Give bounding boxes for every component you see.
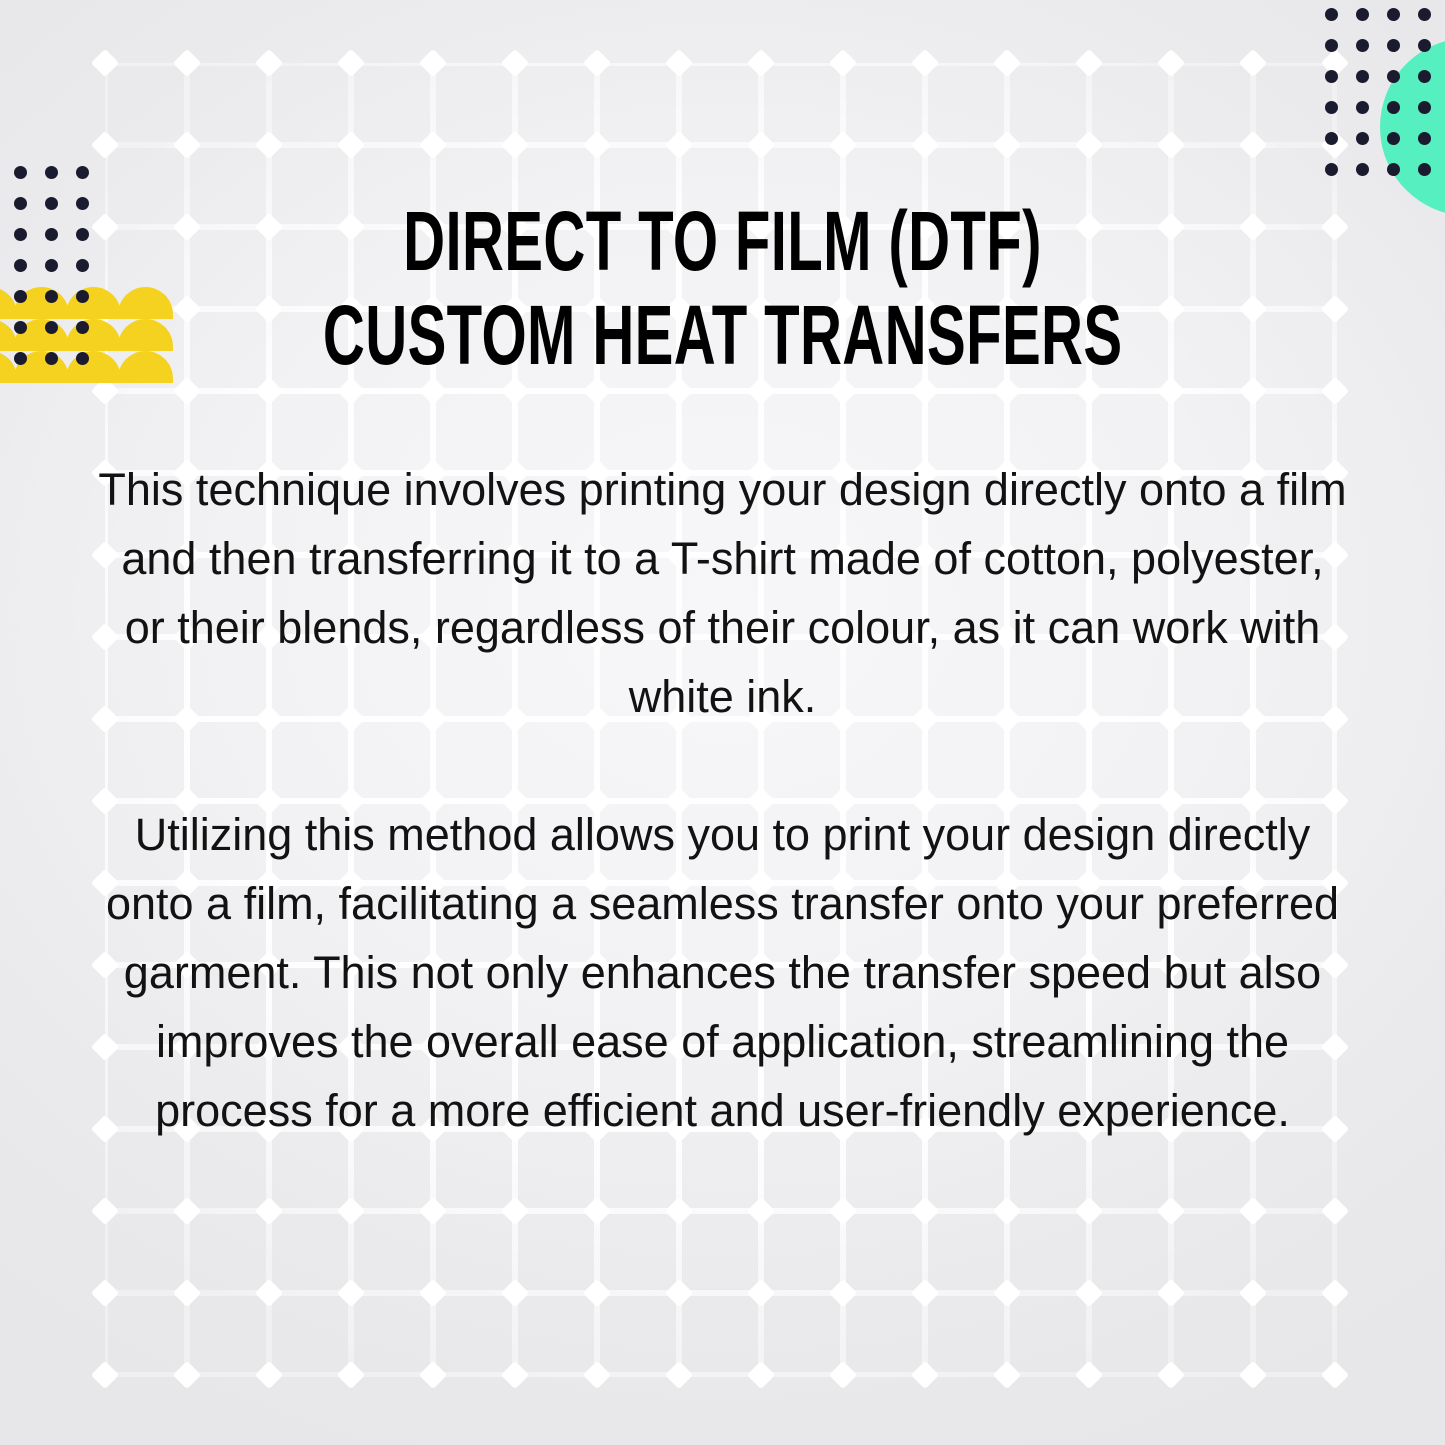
decorative-dot	[1418, 163, 1431, 176]
grid-joint	[419, 1197, 447, 1225]
decorative-dot	[45, 352, 58, 365]
grid-joint	[911, 131, 939, 159]
decorative-dot	[1356, 70, 1369, 83]
decorative-dot	[14, 197, 27, 210]
grid-joint	[501, 49, 529, 77]
grid-joint	[255, 131, 283, 159]
grid-joint	[337, 131, 365, 159]
decorative-dot	[76, 259, 89, 272]
grid-joint	[1239, 131, 1267, 159]
decorative-dot	[76, 166, 89, 179]
decorative-dot	[1418, 39, 1431, 52]
body-copy: This technique involves printing your de…	[96, 455, 1349, 1145]
decorative-dot	[1418, 8, 1431, 21]
grid-joint	[911, 1361, 939, 1389]
grid-joint	[501, 1361, 529, 1389]
grid-joint	[829, 1197, 857, 1225]
grid-joint	[1321, 1279, 1349, 1307]
decorative-dot	[76, 352, 89, 365]
grid-joint	[1157, 49, 1185, 77]
decorative-dot	[1387, 39, 1400, 52]
paragraph-2: Utilizing this method allows you to prin…	[96, 800, 1349, 1145]
decorative-dot	[45, 197, 58, 210]
grid-joint	[419, 1361, 447, 1389]
grid-joint	[1157, 1279, 1185, 1307]
grid-joint	[993, 49, 1021, 77]
grid-joint	[665, 1279, 693, 1307]
grid-joint	[91, 49, 119, 77]
decorative-dot	[14, 321, 27, 334]
grid-joint	[173, 1279, 201, 1307]
decorative-dot	[45, 290, 58, 303]
grid-joint	[1157, 131, 1185, 159]
grid-joint	[419, 49, 447, 77]
decorative-dot	[76, 321, 89, 334]
decorative-dot	[76, 197, 89, 210]
grid-joint	[747, 1361, 775, 1389]
grid-joint	[665, 49, 693, 77]
grid-joint	[91, 1279, 119, 1307]
grid-joint	[1239, 1197, 1267, 1225]
decorative-dot	[14, 259, 27, 272]
grid-joint	[255, 49, 283, 77]
grid-joint	[173, 131, 201, 159]
decorative-dot	[14, 166, 27, 179]
grid-joint	[173, 1361, 201, 1389]
grid-joint	[501, 1279, 529, 1307]
grid-joint	[583, 1197, 611, 1225]
decorative-dot	[76, 228, 89, 241]
decorative-dot	[1356, 39, 1369, 52]
grid-joint	[91, 1361, 119, 1389]
decorative-dot	[1356, 8, 1369, 21]
grid-joint	[255, 1279, 283, 1307]
grid-joint	[665, 1197, 693, 1225]
grid-joint	[583, 131, 611, 159]
grid-joint	[337, 49, 365, 77]
decorative-dot	[1325, 70, 1338, 83]
decorative-dot	[1387, 163, 1400, 176]
decorative-dot	[1387, 101, 1400, 114]
grid-joint	[1239, 1361, 1267, 1389]
grid-joint	[173, 1197, 201, 1225]
grid-joint	[993, 131, 1021, 159]
grid-joint	[337, 1279, 365, 1307]
grid-joint	[583, 49, 611, 77]
grid-joint	[1075, 49, 1103, 77]
decorative-dot	[1356, 101, 1369, 114]
grid-joint	[255, 1197, 283, 1225]
grid-joint	[91, 131, 119, 159]
grid-joint	[993, 1197, 1021, 1225]
decorative-dot	[45, 259, 58, 272]
grid-joint	[1075, 1197, 1103, 1225]
decorative-dot	[1387, 70, 1400, 83]
decorative-dot	[1325, 101, 1338, 114]
grid-joint	[829, 49, 857, 77]
grid-joint	[1239, 1279, 1267, 1307]
decorative-dot	[45, 321, 58, 334]
decorative-dot	[14, 290, 27, 303]
grid-joint	[993, 1279, 1021, 1307]
decorative-dot	[1325, 163, 1338, 176]
grid-joint	[419, 1279, 447, 1307]
grid-joint	[583, 1361, 611, 1389]
decorative-dot	[1356, 132, 1369, 145]
decorative-dot	[45, 228, 58, 241]
grid-joint	[173, 49, 201, 77]
grid-joint	[1321, 1197, 1349, 1225]
grid-joint	[829, 131, 857, 159]
grid-joint	[501, 1197, 529, 1225]
grid-joint	[911, 1197, 939, 1225]
grid-joint	[419, 131, 447, 159]
decorative-dot	[1325, 39, 1338, 52]
grid-joint	[829, 1361, 857, 1389]
grid-joint	[747, 1279, 775, 1307]
grid-joint	[911, 1279, 939, 1307]
title-line-2: CUSTOM HEAT TRANSFERS	[323, 288, 1123, 382]
grid-joint	[501, 131, 529, 159]
decorative-dot	[1387, 8, 1400, 21]
grid-joint	[255, 1361, 283, 1389]
decorative-dot	[1325, 8, 1338, 21]
grid-joint	[665, 1361, 693, 1389]
grid-joint	[747, 49, 775, 77]
grid-joint	[1075, 1361, 1103, 1389]
decorative-dot	[1387, 132, 1400, 145]
grid-joint	[91, 1197, 119, 1225]
decorative-dot	[1356, 163, 1369, 176]
grid-joint	[747, 131, 775, 159]
paragraph-1: This technique involves printing your de…	[96, 455, 1349, 731]
grid-joint	[911, 49, 939, 77]
grid-joint	[993, 1361, 1021, 1389]
grid-joint	[337, 1361, 365, 1389]
decorative-dot	[1418, 70, 1431, 83]
grid-joint	[583, 1279, 611, 1307]
page-title: DIRECT TO FILM (DTF) CUSTOM HEAT TRANSFE…	[0, 194, 1445, 382]
decorative-dot	[1418, 101, 1431, 114]
decorative-dot	[14, 352, 27, 365]
grid-joint	[665, 131, 693, 159]
decorative-dot	[45, 166, 58, 179]
decorative-dot	[1418, 132, 1431, 145]
decorative-dot	[76, 290, 89, 303]
decorative-dot	[1325, 132, 1338, 145]
decorative-dot	[14, 228, 27, 241]
grid-joint	[1075, 131, 1103, 159]
mint-circle-decoration	[1380, 38, 1445, 216]
grid-joint	[337, 1197, 365, 1225]
grid-joint	[829, 1279, 857, 1307]
poster-canvas: DIRECT TO FILM (DTF) CUSTOM HEAT TRANSFE…	[0, 0, 1445, 1445]
grid-joint	[1157, 1361, 1185, 1389]
grid-joint	[1321, 1361, 1349, 1389]
grid-joint	[1239, 49, 1267, 77]
title-line-1: DIRECT TO FILM (DTF)	[403, 194, 1042, 288]
grid-joint	[1075, 1279, 1103, 1307]
grid-joint	[747, 1197, 775, 1225]
grid-joint	[1157, 1197, 1185, 1225]
